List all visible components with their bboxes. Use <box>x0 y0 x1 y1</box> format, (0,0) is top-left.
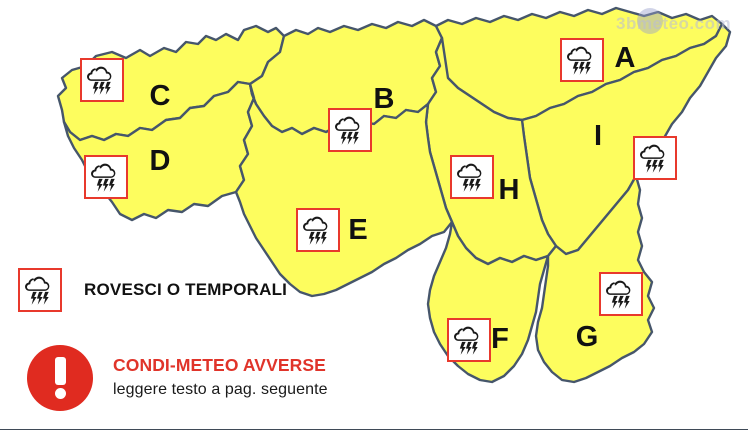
thunderstorm-icon <box>604 277 638 311</box>
legend-label: ROVESCI O TEMPORALI <box>84 280 287 300</box>
zone-label-B: B <box>369 85 399 114</box>
watermark-disc-icon <box>637 8 663 34</box>
exclamation-stem <box>55 357 66 385</box>
zone-label-G: G <box>572 323 602 352</box>
legend-storm-icon-box <box>18 268 62 312</box>
storm-icon-box-B[interactable] <box>328 108 372 152</box>
thunderstorm-icon <box>85 63 119 97</box>
storm-icon-box-I[interactable] <box>633 136 677 180</box>
storm-icon-box-H[interactable] <box>450 155 494 199</box>
thunderstorm-icon <box>23 273 57 307</box>
alert-subtitle: leggere testo a pag. seguente <box>113 380 328 401</box>
zone-label-I: I <box>583 122 613 151</box>
legend: ROVESCI O TEMPORALI <box>18 268 287 312</box>
storm-icon-box-E[interactable] <box>296 208 340 252</box>
storm-icon-box-D[interactable] <box>84 155 128 199</box>
storm-icon-box-G[interactable] <box>599 272 643 316</box>
storm-icon-box-A[interactable] <box>560 38 604 82</box>
zone-label-A: A <box>610 44 640 73</box>
alert-notice: CONDI-METEO AVVERSE leggere testo a pag.… <box>27 345 328 411</box>
thunderstorm-icon <box>565 43 599 77</box>
footer-divider <box>0 429 748 430</box>
thunderstorm-icon <box>638 141 672 175</box>
thunderstorm-icon <box>452 323 486 357</box>
alert-title: CONDI-METEO AVVERSE <box>113 355 328 377</box>
thunderstorm-icon <box>301 213 335 247</box>
weather-map-page: 3bmeteo.com A B C D E F G H I <box>0 0 748 443</box>
storm-icon-box-C[interactable] <box>80 58 124 102</box>
zone-label-C: C <box>145 82 175 111</box>
exclamation-dot <box>55 388 66 399</box>
thunderstorm-icon <box>455 160 489 194</box>
zone-label-D: D <box>145 147 175 176</box>
storm-icon-box-F[interactable] <box>447 318 491 362</box>
zone-label-E: E <box>343 216 373 245</box>
thunderstorm-icon <box>89 160 123 194</box>
alert-text-group: CONDI-METEO AVVERSE leggere testo a pag.… <box>113 355 328 401</box>
exclamation-icon <box>27 345 93 411</box>
thunderstorm-icon <box>333 113 367 147</box>
zone-label-H: H <box>494 176 524 205</box>
